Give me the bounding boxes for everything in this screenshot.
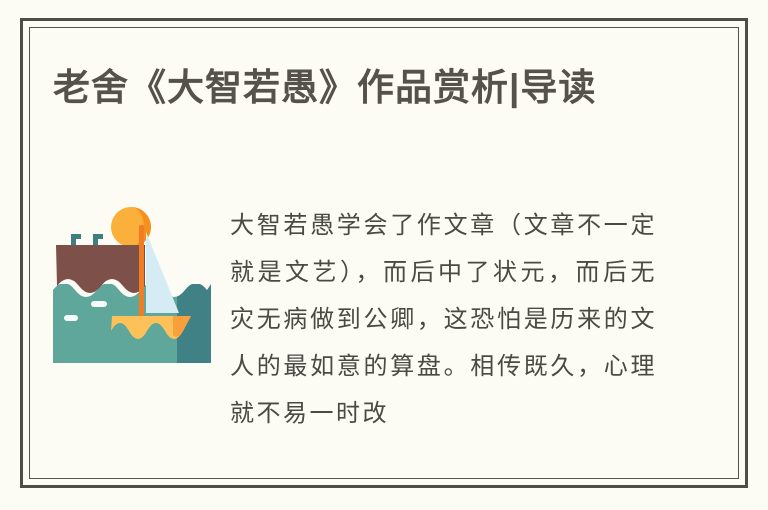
sailboat-harbor-icon xyxy=(53,198,211,363)
article-card-page: 老舍《大智若愚》作品赏析|导读 xyxy=(0,0,768,510)
page-title: 老舍《大智若愚》作品赏析|导读 xyxy=(53,60,693,116)
illustration-container xyxy=(53,198,211,363)
dock-bollards-icon xyxy=(71,234,103,246)
article-body-text: 大智若愚学会了作文章（文章不一定就是文艺），而后中了状元，而后无灾无病做到公卿，… xyxy=(230,202,657,437)
mast-icon xyxy=(139,225,144,325)
content-area: 大智若愚学会了作文章（文章不一定就是文艺），而后中了状元，而后无灾无病做到公卿，… xyxy=(53,190,693,375)
sun-icon xyxy=(111,207,151,247)
